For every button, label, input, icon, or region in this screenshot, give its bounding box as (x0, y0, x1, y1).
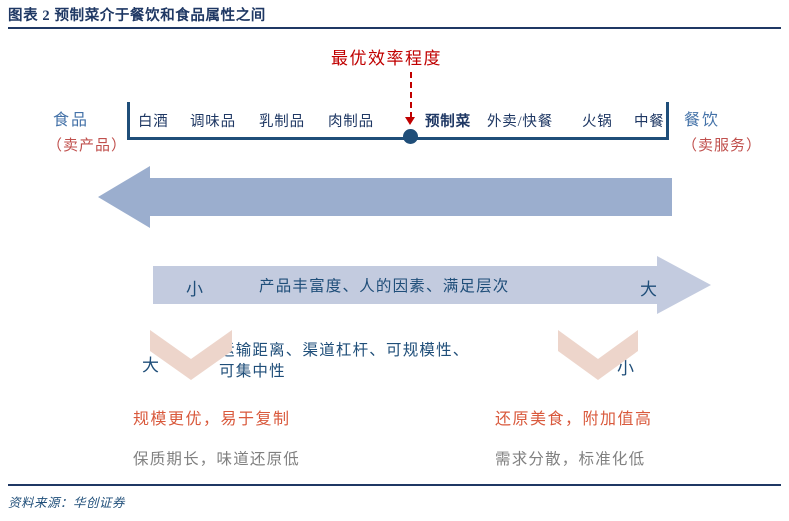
note-left-highlight: 规模更优，易于复制 (133, 405, 300, 429)
spectrum-item-6: 火锅 (582, 110, 613, 131)
catering-label-primary: 餐饮 (682, 106, 762, 130)
note-right-muted: 需求分散，标准化低 (495, 447, 653, 469)
chart-header: 图表 2 预制菜介于餐饮和食品属性之间 (8, 4, 781, 25)
arrow-right-pointing: 小 大 产品丰富度、人的因素、满足层次 (153, 256, 711, 314)
spectrum-item-5: 外卖/快餐 (487, 110, 553, 131)
catering-end-label: 餐饮 （卖服务） (682, 106, 762, 155)
spectrum-item-4: 预制菜 (425, 110, 471, 131)
header-divider (8, 27, 781, 29)
spectrum-marker-dot (403, 129, 418, 144)
note-left-muted: 保质期长，味道还原低 (133, 447, 300, 469)
note-right: 还原美食，附加值高 需求分散，标准化低 (495, 405, 653, 469)
spectrum-item-0: 白酒 (138, 110, 169, 131)
food-end-label: 食品 （卖产品） (47, 106, 127, 155)
food-label-secondary: （卖产品） (47, 134, 127, 155)
arrow-right-magnitude-start: 小 (186, 275, 204, 300)
chevron-down-icon-right (558, 330, 638, 380)
food-label-primary: 食品 (47, 106, 127, 130)
arrow-left-body-text: 运输距离、渠道杠杆、可规模性、 可集中性 (219, 340, 470, 382)
spectrum-item-2: 乳制品 (259, 110, 305, 131)
note-left: 规模更优，易于复制 保质期长，味道还原低 (133, 405, 300, 469)
arrow-left-shape-icon (98, 166, 672, 228)
arrow-right-body-text: 产品丰富度、人的因素、满足层次 (259, 276, 510, 297)
spectrum-item-3: 肉制品 (328, 110, 374, 131)
spectrum-item-1: 调味品 (190, 110, 236, 131)
arrow-left-pointing: 大 小 运输距离、渠道杠杆、可规模性、 可集中性 (98, 166, 672, 228)
source-note: 资料来源：华创证券 (8, 492, 125, 511)
arrow-left-body-line-1: 运输距离、渠道杠杆、可规模性、 (219, 342, 470, 359)
catering-label-secondary: （卖服务） (682, 134, 762, 155)
arrow-right-magnitude-end: 大 (640, 275, 658, 300)
optimal-efficiency-label: 最优效率程度 (331, 44, 442, 69)
chevron-down-icon-left (150, 330, 232, 380)
spectrum-item-7: 中餐 (634, 110, 665, 131)
spectrum-right-cap (666, 102, 669, 140)
spectrum-baseline (127, 137, 669, 140)
page-title: 图表 2 预制菜介于餐饮和食品属性之间 (8, 4, 781, 25)
footer-divider (8, 484, 781, 486)
note-right-highlight: 还原美食，附加值高 (495, 405, 653, 429)
spectrum-left-cap (127, 102, 130, 140)
